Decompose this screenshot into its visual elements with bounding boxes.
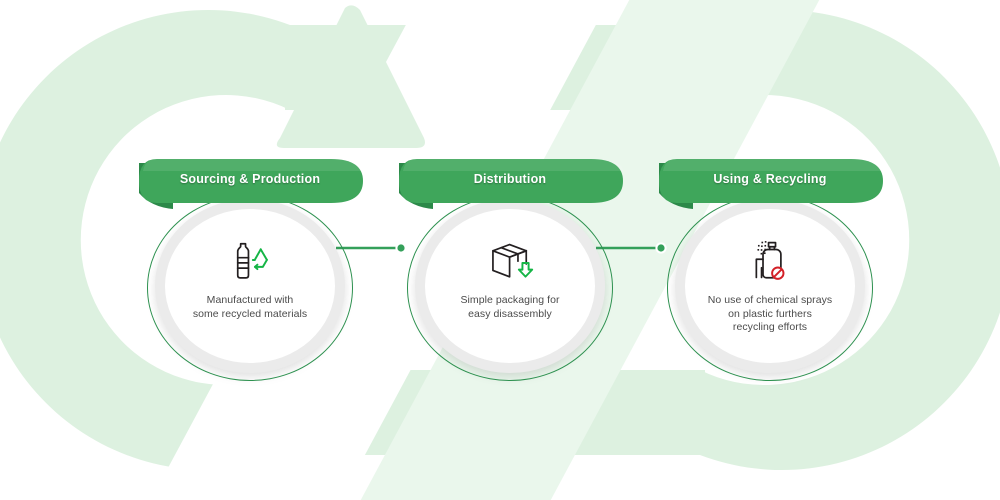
spray-particles <box>757 241 766 254</box>
stage-card-using-recycling[interactable]: No use of chemical sprays on plastic fur… <box>655 155 885 385</box>
infographic-canvas: Manufactured with some recycled material… <box>0 0 1000 500</box>
card-description: Manufactured with some recycled material… <box>175 294 325 321</box>
card-face: No use of chemical sprays on plastic fur… <box>685 209 855 363</box>
stage-banner: Sourcing & Production <box>135 155 365 210</box>
card-face: Simple packaging for easy disassembly <box>425 209 595 363</box>
plastic-bottle-recycle-icon <box>224 239 276 285</box>
banner-gloss <box>403 159 623 171</box>
banner-shape <box>135 155 365 210</box>
package-box-download-icon <box>484 239 536 285</box>
prohibition-sign <box>771 267 784 280</box>
card-face: Manufactured with some recycled material… <box>165 209 335 363</box>
banner-gloss <box>663 159 883 171</box>
stage-banner: Distribution <box>395 155 625 210</box>
banner-shape <box>655 155 885 210</box>
card-description: Simple packaging for easy disassembly <box>435 294 585 321</box>
spray-bottle-prohibited-icon <box>744 239 796 285</box>
stage-card-sourcing-production[interactable]: Manufactured with some recycled material… <box>135 155 365 385</box>
banner-shape <box>395 155 625 210</box>
banner-gloss <box>143 159 363 171</box>
stage-banner: Using & Recycling <box>655 155 885 210</box>
stage-card-distribution[interactable]: Simple packaging for easy disassembly Di… <box>395 155 625 385</box>
card-description: No use of chemical sprays on plastic fur… <box>695 294 845 335</box>
